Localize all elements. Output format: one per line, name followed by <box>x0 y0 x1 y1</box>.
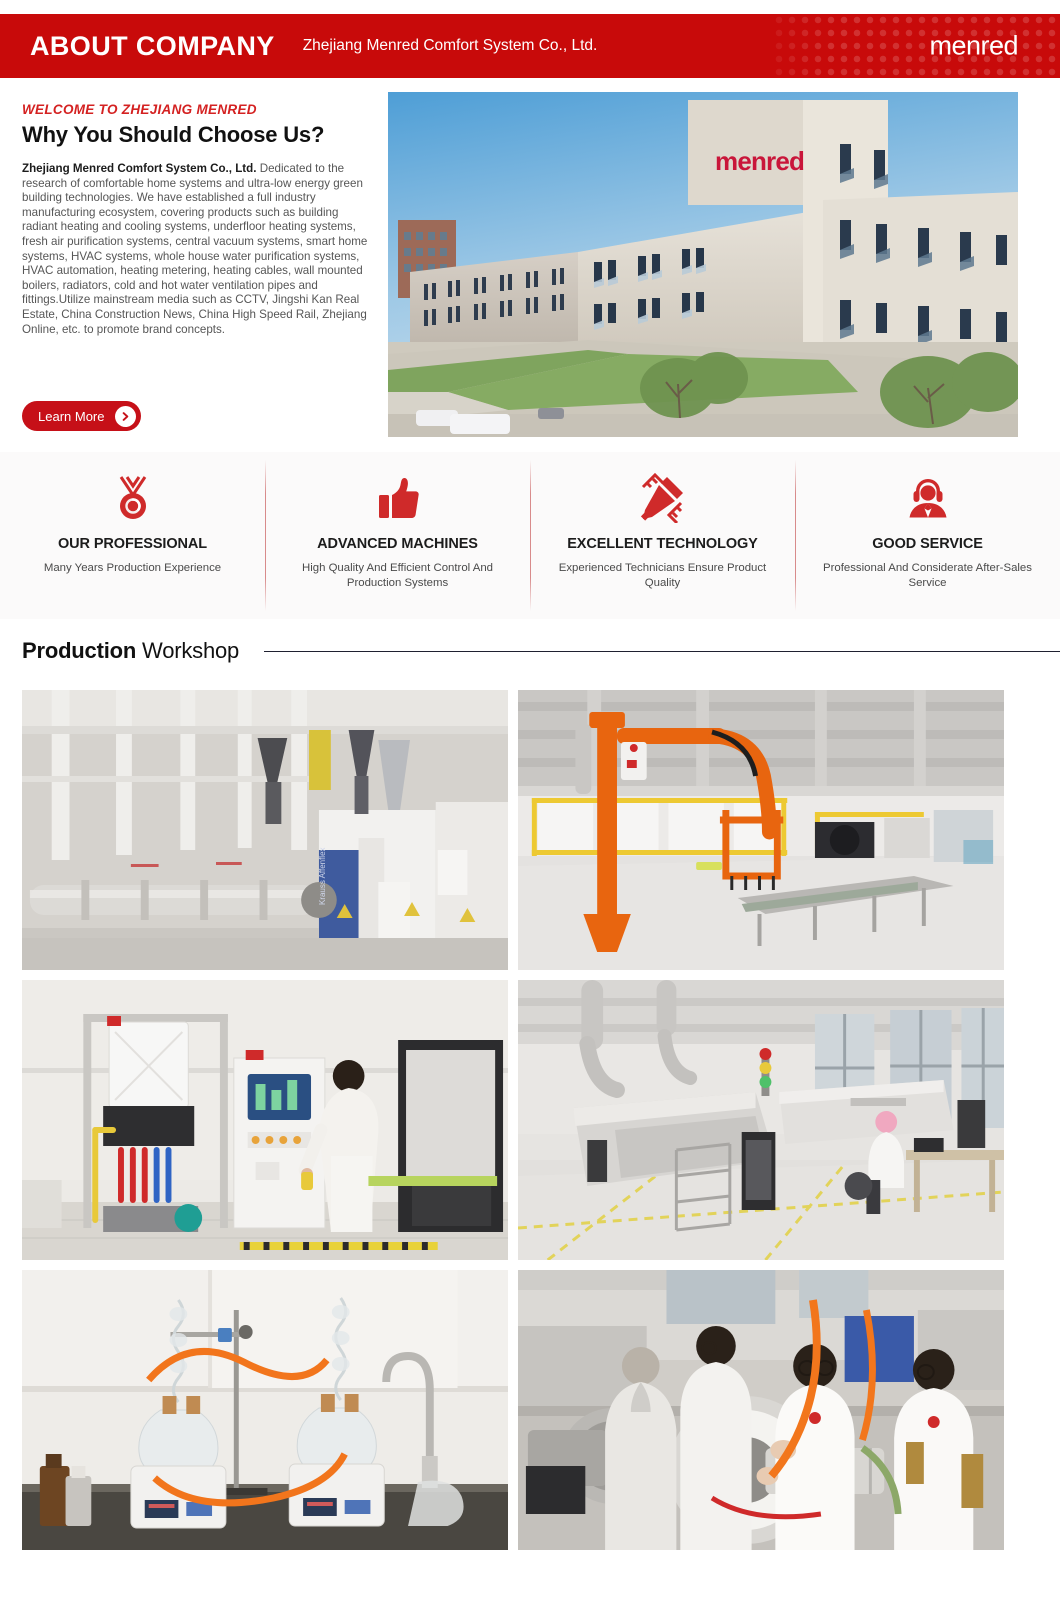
menred-logo: menred <box>929 31 1018 62</box>
workshop-photo-engineers-extruder[interactable] <box>518 1270 1004 1550</box>
feature-good-service: GOOD SERVICE Professional And Considerat… <box>795 452 1060 619</box>
page-title: ABOUT COMPANY <box>30 31 275 62</box>
workshop-photo-pipe-extrusion[interactable]: Krauss Affenflex <box>22 690 508 970</box>
workshop-photo-grid: Krauss Affenflex <box>22 690 1004 1560</box>
hero-photo-headquarters: menred <box>388 92 1018 437</box>
thumbs-up-icon <box>374 472 422 524</box>
feature-excellent-technology: EXCELLENT TECHNOLOGY Experienced Technic… <box>530 452 795 619</box>
svg-text:Krauss Affenflex: Krauss Affenflex <box>318 847 327 905</box>
workshop-photo-cell <box>513 980 1004 1270</box>
medal-icon <box>110 472 156 524</box>
feature-title: EXCELLENT TECHNOLOGY <box>567 536 758 552</box>
feature-highlights: OUR PROFESSIONAL Many Years Production E… <box>0 452 1060 619</box>
feature-title: OUR PROFESSIONAL <box>58 536 207 552</box>
workshop-title-bold: Production <box>22 638 136 663</box>
workshop-title: Production Workshop <box>22 638 239 664</box>
chevron-right-icon <box>115 406 136 427</box>
workshop-photo-chemistry-lab[interactable] <box>22 1270 508 1550</box>
workshop-photo-cell: Krauss Affenflex <box>22 690 513 980</box>
learn-more-button[interactable]: Learn More <box>22 401 141 431</box>
feature-description: Professional And Considerate After-Sales… <box>819 561 1037 592</box>
feature-title: ADVANCED MACHINES <box>317 536 478 552</box>
workshop-section-header: Production Workshop <box>22 634 1060 668</box>
title-divider-rule <box>264 651 1060 652</box>
hero-eyebrow: WELCOME TO ZHEJIANG MENRED <box>22 102 370 117</box>
workshop-photo-cell <box>513 1270 1004 1560</box>
workshop-photo-cell <box>22 980 513 1270</box>
hero-text-column: WELCOME TO ZHEJIANG MENRED Why You Shoul… <box>22 102 370 337</box>
learn-more-label: Learn More <box>38 409 104 424</box>
svg-text:menred: menred <box>715 146 804 176</box>
hero-heading: Why You Should Choose Us? <box>22 122 370 148</box>
company-name-subtitle: Zhejiang Menred Comfort System Co., Ltd. <box>303 37 598 55</box>
feature-description: Experienced Technicians Ensure Product Q… <box>554 561 772 592</box>
workshop-photo-boiler-test-bench[interactable] <box>22 980 508 1260</box>
feature-our-professional: OUR PROFESSIONAL Many Years Production E… <box>0 452 265 619</box>
feature-description: Many Years Production Experience <box>44 561 221 576</box>
page-header: ABOUT COMPANY Zhejiang Menred Comfort Sy… <box>0 14 1060 78</box>
feature-title: GOOD SERVICE <box>872 536 983 552</box>
workshop-photo-cell <box>513 690 1004 980</box>
workshop-photo-robotic-manipulator[interactable] <box>518 690 1004 970</box>
workshop-photo-smt-line[interactable] <box>518 980 1004 1260</box>
hero-paragraph-lead: Zhejiang Menred Comfort System Co., Ltd. <box>22 162 256 175</box>
workshop-photo-cell <box>22 1270 513 1560</box>
pen-ruler-icon <box>637 472 689 524</box>
headset-agent-icon <box>904 472 952 524</box>
hero-paragraph: Zhejiang Menred Comfort System Co., Ltd.… <box>22 162 370 337</box>
feature-advanced-machines: ADVANCED MACHINES High Quality And Effic… <box>265 452 530 619</box>
workshop-title-normal: Workshop <box>142 638 239 663</box>
hero-paragraph-rest: Dedicated to the research of comfortable… <box>22 162 367 336</box>
feature-description: High Quality And Efficient Control And P… <box>289 561 507 592</box>
about-company-page: ABOUT COMPANY Zhejiang Menred Comfort Sy… <box>0 0 1060 1609</box>
